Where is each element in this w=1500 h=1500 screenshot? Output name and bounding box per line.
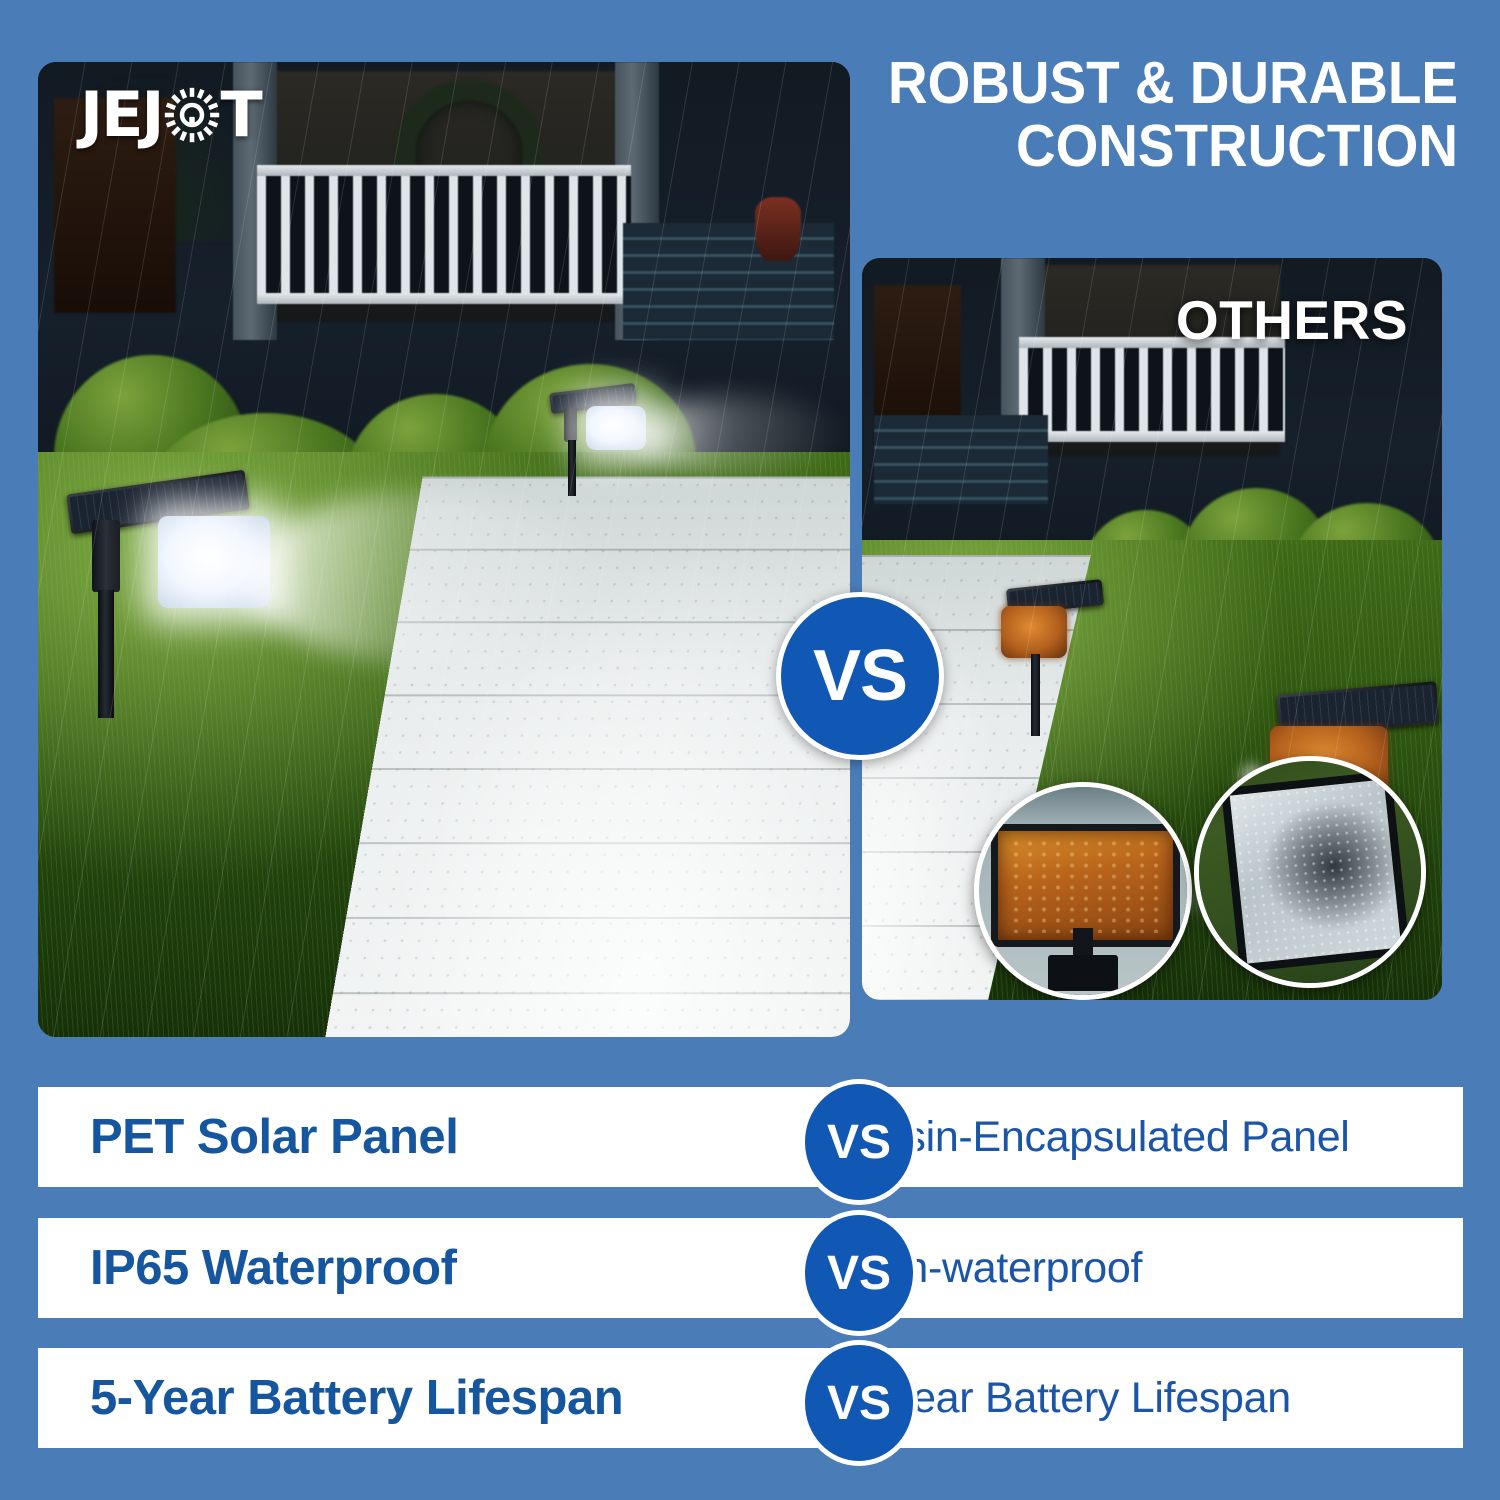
- vs-badge-label: VS: [827, 1376, 891, 1431]
- product-comparison-poster: ROBUST & DURABLE CONSTRUCTION: [0, 0, 1500, 1500]
- vs-badge-label: VS: [813, 635, 907, 717]
- page-title: ROBUST & DURABLE CONSTRUCTION: [881, 52, 1458, 178]
- row-ours-label: IP65 Waterproof: [38, 1240, 778, 1296]
- fixture-mount-plate: [1048, 955, 1119, 990]
- table-row: IP65 Waterproof VS Non-waterproof: [38, 1218, 1463, 1318]
- frosted-degraded-panel: [1221, 770, 1411, 972]
- logo-text-jej: JEJ: [80, 84, 163, 146]
- vs-badge-main: VS: [776, 592, 944, 760]
- corroded-resin-panel-inset: [974, 782, 1192, 1000]
- inset-photo: [979, 787, 1187, 995]
- others-label: OTHERS: [1176, 288, 1408, 352]
- jejot-product-photo: JEJ: [38, 62, 850, 1037]
- headline-line-1: ROBUST & DURABLE: [888, 50, 1458, 116]
- logo-text-t: T: [221, 84, 261, 146]
- others-product-photo: OTHERS: [862, 258, 1442, 1000]
- vs-badge-label: VS: [827, 1246, 891, 1301]
- table-row: 5-Year Battery Lifespan VS 1-Year Batter…: [38, 1348, 1463, 1448]
- headline-line-2: CONSTRUCTION: [881, 115, 1458, 178]
- row-ours-label: 5-Year Battery Lifespan: [38, 1370, 778, 1426]
- hero-section: ROBUST & DURABLE CONSTRUCTION: [0, 0, 1500, 1062]
- comparison-table: PET Solar Panel VS Resin-Encapsulated Pa…: [0, 1062, 1500, 1500]
- sun-burst-bulb-icon: [163, 86, 221, 144]
- vs-badge-row: VS: [800, 1340, 918, 1466]
- vs-badge-row: VS: [800, 1210, 918, 1336]
- brand-logo: JEJ: [80, 84, 261, 146]
- rain-overlay: [38, 62, 850, 1037]
- night-garden-scene-ours: [38, 62, 850, 1037]
- vs-badge-row: VS: [800, 1079, 918, 1205]
- vs-badge-label: VS: [827, 1115, 891, 1170]
- row-ours-label: PET Solar Panel: [38, 1109, 778, 1165]
- degraded-solar-panel-inset: [1194, 756, 1426, 988]
- table-row: PET Solar Panel VS Resin-Encapsulated Pa…: [38, 1087, 1463, 1187]
- inset-photo: [1199, 761, 1421, 983]
